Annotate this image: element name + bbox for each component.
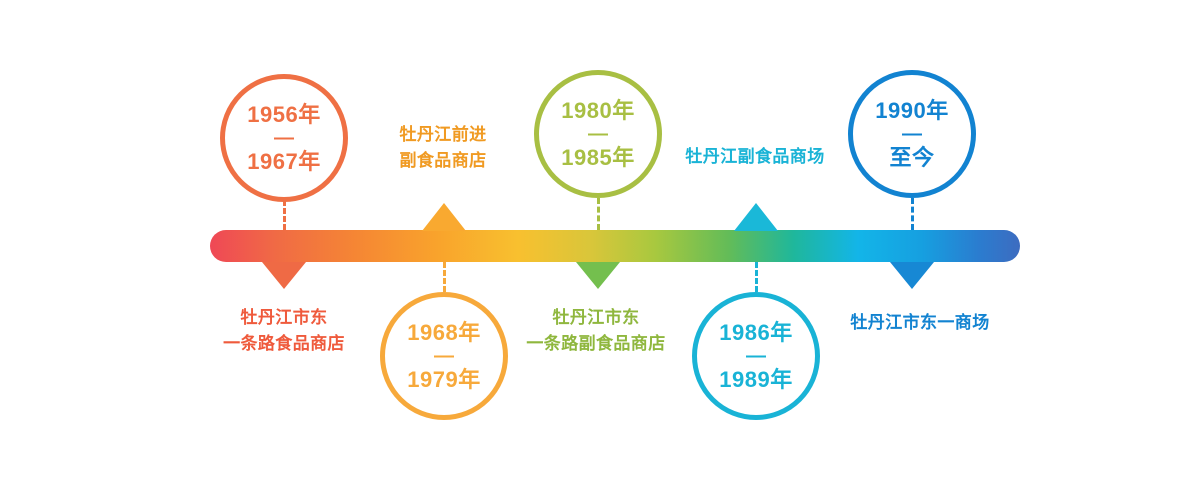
period-separator: —	[434, 346, 454, 366]
event-label-1980-1985: 牡丹江市东 一条路副食品商店	[496, 305, 696, 358]
timeline-circle-1986-1989[interactable]: 1986年 — 1989年	[692, 292, 820, 420]
period-end-label: 至今	[889, 146, 934, 169]
connector-line-1980-1985	[597, 198, 600, 230]
period-start-label: 1980年	[561, 99, 634, 122]
period-separator: —	[902, 124, 922, 144]
period-end-label: 1967年	[247, 150, 320, 173]
timeline-circle-1980-1985[interactable]: 1980年 — 1985年	[534, 70, 662, 198]
connector-line-1986-1989	[755, 262, 758, 292]
period-end-label: 1985年	[561, 146, 634, 169]
period-separator: —	[588, 124, 608, 144]
event-label-1968-1979: 牡丹江前进 副食品商店	[345, 122, 541, 175]
timeline-circle-1968-1979[interactable]: 1968年 — 1979年	[380, 292, 508, 420]
event-label-1986-1989: 牡丹江副食品商场	[672, 144, 838, 170]
period-separator: —	[746, 346, 766, 366]
period-start-label: 1968年	[407, 321, 480, 344]
period-start-label: 1956年	[247, 103, 320, 126]
period-separator: —	[274, 128, 294, 148]
period-end-label: 1979年	[407, 368, 480, 391]
marker-triangle-down-1980-1985	[576, 262, 620, 289]
connector-line-1990-present	[911, 198, 914, 230]
period-end-label: 1989年	[719, 368, 792, 391]
timeline-infographic: 1956年 — 1967年 牡丹江市东 一条路食品商店 1968年 — 1979…	[0, 0, 1200, 500]
period-start-label: 1990年	[875, 99, 948, 122]
period-start-label: 1986年	[719, 321, 792, 344]
event-label-1956-1967: 牡丹江市东 一条路食品商店	[184, 305, 384, 358]
marker-triangle-up-1986-1989	[734, 203, 778, 231]
connector-line-1956-1967	[283, 200, 286, 230]
marker-triangle-up-1968-1979	[422, 203, 466, 231]
marker-triangle-down-1956-1967	[262, 262, 306, 289]
event-label-1990-present: 牡丹江市东一商场	[835, 310, 1005, 336]
marker-triangle-down-1990-present	[890, 262, 934, 289]
timeline-gradient-bar	[210, 230, 1020, 262]
timeline-circle-1956-1967[interactable]: 1956年 — 1967年	[220, 74, 348, 202]
connector-line-1968-1979	[443, 262, 446, 292]
timeline-circle-1990-present[interactable]: 1990年 — 至今	[848, 70, 976, 198]
